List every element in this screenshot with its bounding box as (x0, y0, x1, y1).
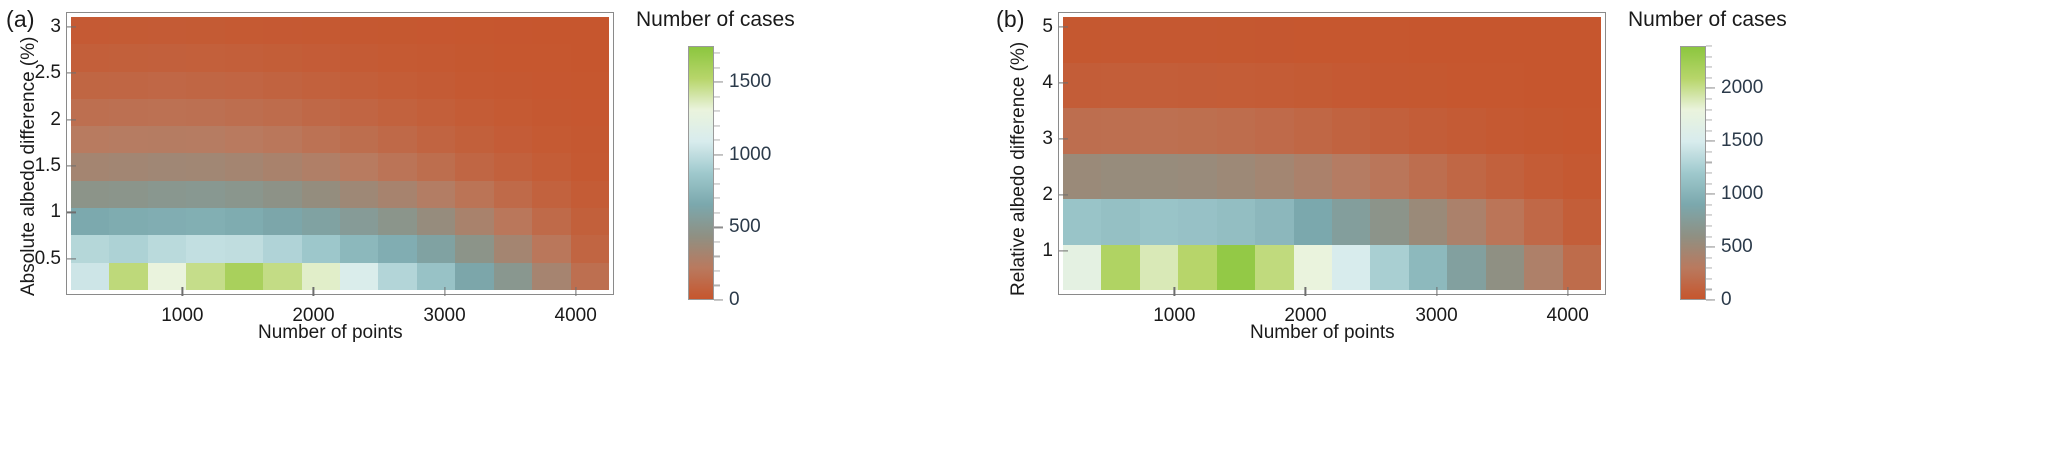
heatmap-cell (494, 99, 532, 126)
heatmap-cell (109, 235, 147, 262)
heatmap-cell (1563, 245, 1601, 291)
panel-b-tag: (b) (996, 6, 1025, 33)
heatmap-cell (186, 17, 224, 44)
heatmap-cell (340, 263, 378, 290)
panel-a-colorbar-title: Number of cases (636, 8, 795, 32)
heatmap-cell (455, 44, 493, 71)
panel-b-plot-area (1063, 17, 1601, 290)
heatmap-cell (1524, 108, 1562, 154)
heatmap-cell (494, 126, 532, 153)
heatmap-cell (1255, 154, 1293, 200)
heatmap-cell (1486, 199, 1524, 245)
heatmap-cell (532, 99, 570, 126)
heatmap-cell (263, 72, 301, 99)
panel-b-plot-frame: 12345 1000200030004000 (1058, 12, 1606, 295)
heatmap-cell (225, 126, 263, 153)
heatmap-cell (225, 208, 263, 235)
figure-root: (a) Absolute albedo difference (%) 0.511… (0, 0, 2067, 470)
heatmap-cell (1178, 199, 1216, 245)
heatmap-cell (417, 44, 455, 71)
y-tick-label: 4 (1042, 72, 1053, 94)
heatmap-cell (1063, 17, 1101, 63)
heatmap-cell (417, 126, 455, 153)
heatmap-cell (1140, 154, 1178, 200)
heatmap-cell (417, 235, 455, 262)
heatmap-cell (302, 44, 340, 71)
heatmap-cell (1178, 17, 1216, 63)
heatmap-cell (1140, 63, 1178, 109)
y-tick-mark (67, 119, 76, 120)
heatmap-cell (378, 72, 416, 99)
heatmap-cell (1217, 199, 1255, 245)
heatmap-cell (186, 181, 224, 208)
x-tick-mark (1567, 287, 1568, 296)
heatmap-cell (263, 263, 301, 290)
heatmap-cell (225, 235, 263, 262)
colorbar-minor-tick (1706, 98, 1712, 99)
heatmap-cell (494, 153, 532, 180)
heatmap-cell (1255, 63, 1293, 109)
x-tick-label: 1000 (1153, 305, 1195, 327)
colorbar-minor-tick (1706, 204, 1712, 205)
heatmap-cell (378, 99, 416, 126)
heatmap-cell (1447, 199, 1485, 245)
colorbar-minor-tick (1706, 215, 1712, 216)
heatmap-cell (1370, 63, 1408, 109)
colorbar-minor-tick (714, 183, 720, 184)
heatmap-cell (225, 263, 263, 290)
colorbar-minor-tick (714, 125, 720, 126)
heatmap-cell (340, 153, 378, 180)
heatmap-cell (1178, 245, 1216, 291)
y-tick-label: 2 (1042, 184, 1053, 206)
colorbar-tick (1706, 194, 1715, 195)
heatmap-cell (378, 126, 416, 153)
heatmap-cell (532, 126, 570, 153)
heatmap-cell (1370, 245, 1408, 291)
heatmap-cell (302, 99, 340, 126)
heatmap-cell (109, 17, 147, 44)
heatmap-cell (340, 72, 378, 99)
colorbar-minor-tick (714, 53, 720, 54)
heatmap-cell (1447, 154, 1485, 200)
colorbar-minor-tick (714, 212, 720, 213)
heatmap-cell (571, 17, 609, 44)
heatmap-cell (302, 181, 340, 208)
heatmap-cell (1370, 154, 1408, 200)
heatmap-cell (109, 153, 147, 180)
colorbar-tick (714, 299, 723, 300)
heatmap-cell (1563, 154, 1601, 200)
heatmap-cell (417, 263, 455, 290)
y-tick-mark (1059, 251, 1068, 252)
heatmap-cell (1486, 108, 1524, 154)
heatmap-cell (532, 235, 570, 262)
heatmap-cell (571, 126, 609, 153)
heatmap-cell (417, 17, 455, 44)
heatmap-cell (378, 208, 416, 235)
heatmap-cell (302, 72, 340, 99)
heatmap-cell (532, 153, 570, 180)
heatmap-cell (417, 99, 455, 126)
heatmap-cell (1255, 245, 1293, 291)
heatmap-cell (340, 126, 378, 153)
heatmap-cell (455, 17, 493, 44)
colorbar-tick (1706, 141, 1715, 142)
panel-a-heatmap (71, 17, 609, 290)
heatmap-cell (494, 17, 532, 44)
heatmap-cell (1101, 17, 1139, 63)
heatmap-cell (571, 208, 609, 235)
heatmap-cell (1140, 17, 1178, 63)
heatmap-cell (1524, 245, 1562, 291)
heatmap-cell (1063, 108, 1101, 154)
y-tick-label: 2.5 (35, 62, 61, 84)
heatmap-cell (225, 17, 263, 44)
panel-a-plot-area (71, 17, 609, 290)
x-tick-mark (575, 287, 576, 296)
heatmap-cell (263, 44, 301, 71)
heatmap-cell (148, 263, 186, 290)
heatmap-cell (1294, 199, 1332, 245)
heatmap-cell (263, 99, 301, 126)
heatmap-cell (378, 153, 416, 180)
heatmap-cell (455, 208, 493, 235)
heatmap-cell (1332, 199, 1370, 245)
heatmap-cell (1178, 154, 1216, 200)
heatmap-cell (378, 17, 416, 44)
heatmap-cell (455, 153, 493, 180)
y-tick-mark (67, 166, 76, 167)
heatmap-cell (71, 263, 109, 290)
panel-b-heatmap (1063, 17, 1601, 290)
heatmap-cell (455, 235, 493, 262)
x-tick-mark (1305, 287, 1306, 296)
heatmap-cell (1101, 199, 1139, 245)
heatmap-cell (571, 99, 609, 126)
panel-a-plot-frame: 0.511.522.53 1000200030004000 (66, 12, 614, 295)
colorbar-minor-tick (1706, 77, 1712, 78)
heatmap-cell (1409, 17, 1447, 63)
x-tick-mark (444, 287, 445, 296)
panel-b-colorbar-title: Number of cases (1628, 8, 1787, 32)
heatmap-cell (494, 235, 532, 262)
heatmap-cell (263, 126, 301, 153)
heatmap-cell (71, 126, 109, 153)
heatmap-cell (71, 208, 109, 235)
panel-b-colorbar (1680, 46, 1706, 300)
heatmap-cell (1101, 108, 1139, 154)
heatmap-cell (1217, 154, 1255, 200)
heatmap-cell (1409, 199, 1447, 245)
heatmap-cell (71, 17, 109, 44)
colorbar-minor-tick (1706, 45, 1712, 46)
colorbar-tick (714, 154, 723, 155)
heatmap-cell (1101, 245, 1139, 291)
heatmap-cell (1063, 63, 1101, 109)
colorbar-minor-tick (714, 270, 720, 271)
heatmap-cell (1447, 108, 1485, 154)
heatmap-cell (1217, 108, 1255, 154)
colorbar-tick-label: 0 (729, 289, 740, 311)
colorbar-tick-label: 0 (1721, 289, 1732, 311)
heatmap-cell (148, 235, 186, 262)
heatmap-cell (340, 99, 378, 126)
colorbar-minor-tick (1706, 120, 1712, 121)
x-tick-mark (1174, 287, 1175, 296)
y-tick-mark (1059, 26, 1068, 27)
heatmap-cell (1063, 245, 1101, 291)
heatmap-cell (494, 263, 532, 290)
heatmap-cell (1370, 17, 1408, 63)
heatmap-cell (1524, 17, 1562, 63)
heatmap-cell (1063, 154, 1101, 200)
heatmap-cell (1332, 108, 1370, 154)
heatmap-cell (1140, 108, 1178, 154)
colorbar-minor-tick (714, 67, 720, 68)
panel-a-colorbar-group: Number of cases 050010001500 (636, 0, 936, 470)
x-tick-label: 4000 (1547, 305, 1589, 327)
heatmap-cell (186, 263, 224, 290)
heatmap-cell (1217, 63, 1255, 109)
heatmap-cell (1063, 199, 1101, 245)
colorbar-minor-tick (1706, 225, 1712, 226)
colorbar-minor-tick (1706, 109, 1712, 110)
panel-b-xlabel: Number of points (1250, 322, 1395, 344)
heatmap-cell (494, 181, 532, 208)
heatmap-cell (109, 72, 147, 99)
heatmap-cell (186, 99, 224, 126)
panel-a-xlabel: Number of points (258, 322, 403, 344)
heatmap-cell (71, 99, 109, 126)
colorbar-minor-tick (714, 198, 720, 199)
heatmap-cell (455, 126, 493, 153)
colorbar-tick-label: 2000 (1721, 77, 1763, 99)
colorbar-minor-tick (1706, 172, 1712, 173)
heatmap-cell (378, 44, 416, 71)
heatmap-cell (532, 72, 570, 99)
heatmap-cell (378, 181, 416, 208)
colorbar-tick-label: 500 (1721, 236, 1753, 258)
heatmap-cell (417, 72, 455, 99)
heatmap-cell (302, 235, 340, 262)
heatmap-cell (1255, 108, 1293, 154)
heatmap-cell (1217, 245, 1255, 291)
heatmap-cell (71, 235, 109, 262)
y-tick-label: 3 (1042, 128, 1053, 150)
heatmap-cell (340, 181, 378, 208)
heatmap-cell (302, 126, 340, 153)
colorbar-minor-tick (1706, 130, 1712, 131)
colorbar-tick (714, 82, 723, 83)
heatmap-cell (1447, 63, 1485, 109)
heatmap-cell (71, 181, 109, 208)
heatmap-cell (1101, 63, 1139, 109)
colorbar-tick-label: 1500 (729, 71, 771, 93)
heatmap-cell (225, 44, 263, 71)
panel-b-colorbar-group: Number of cases 0500100015002000 (1628, 0, 1928, 470)
y-tick-mark (1059, 82, 1068, 83)
heatmap-cell (378, 263, 416, 290)
colorbar-minor-tick (714, 169, 720, 170)
heatmap-cell (263, 17, 301, 44)
heatmap-cell (1140, 199, 1178, 245)
heatmap-cell (455, 99, 493, 126)
heatmap-cell (1255, 199, 1293, 245)
heatmap-cell (340, 208, 378, 235)
heatmap-cell (1255, 17, 1293, 63)
heatmap-cell (225, 72, 263, 99)
heatmap-cell (571, 44, 609, 71)
colorbar-tick-label: 500 (729, 216, 761, 238)
panel-a-colorbar (688, 46, 714, 300)
panel-b: (b) Relative albedo difference (%) 12345… (1010, 0, 2067, 470)
heatmap-cell (494, 208, 532, 235)
heatmap-cell (378, 235, 416, 262)
heatmap-cell (571, 235, 609, 262)
x-tick-label: 4000 (555, 305, 597, 327)
heatmap-cell (263, 181, 301, 208)
heatmap-cell (186, 126, 224, 153)
heatmap-cell (1409, 245, 1447, 291)
heatmap-cell (532, 17, 570, 44)
colorbar-minor-tick (1706, 268, 1712, 269)
colorbar-tick-label: 1500 (1721, 130, 1763, 152)
heatmap-cell (1524, 199, 1562, 245)
heatmap-cell (263, 153, 301, 180)
heatmap-cell (494, 44, 532, 71)
heatmap-cell (1486, 63, 1524, 109)
heatmap-cell (1409, 154, 1447, 200)
heatmap-cell (1332, 154, 1370, 200)
colorbar-minor-tick (1706, 278, 1712, 279)
heatmap-cell (148, 72, 186, 99)
heatmap-cell (1101, 154, 1139, 200)
heatmap-cell (532, 181, 570, 208)
heatmap-cell (1178, 63, 1216, 109)
heatmap-cell (71, 72, 109, 99)
heatmap-cell (1294, 108, 1332, 154)
heatmap-cell (148, 44, 186, 71)
colorbar-minor-tick (1706, 183, 1712, 184)
y-tick-label: 1 (1042, 240, 1053, 262)
heatmap-cell (417, 208, 455, 235)
x-tick-mark (313, 287, 314, 296)
y-tick-mark (67, 26, 76, 27)
heatmap-cell (1178, 108, 1216, 154)
x-tick-mark (182, 287, 183, 296)
heatmap-cell (571, 153, 609, 180)
colorbar-minor-tick (714, 256, 720, 257)
heatmap-cell (1332, 245, 1370, 291)
heatmap-cell (532, 263, 570, 290)
x-tick-label: 1000 (161, 305, 203, 327)
heatmap-cell (1447, 245, 1485, 291)
colorbar-minor-tick (1706, 257, 1712, 258)
heatmap-cell (417, 153, 455, 180)
heatmap-cell (1294, 63, 1332, 109)
heatmap-cell (109, 263, 147, 290)
heatmap-cell (1370, 199, 1408, 245)
heatmap-cell (1370, 108, 1408, 154)
heatmap-cell (455, 181, 493, 208)
heatmap-cell (148, 153, 186, 180)
heatmap-cell (148, 181, 186, 208)
heatmap-cell (340, 235, 378, 262)
heatmap-cell (109, 99, 147, 126)
heatmap-cell (302, 208, 340, 235)
y-tick-label: 5 (1042, 16, 1053, 38)
heatmap-cell (109, 44, 147, 71)
y-tick-label: 0.5 (35, 248, 61, 270)
heatmap-cell (1486, 154, 1524, 200)
colorbar-minor-tick (1706, 56, 1712, 57)
heatmap-cell (455, 72, 493, 99)
colorbar-tick (1706, 88, 1715, 89)
heatmap-cell (302, 263, 340, 290)
heatmap-cell (263, 235, 301, 262)
heatmap-cell (186, 44, 224, 71)
heatmap-cell (1524, 63, 1562, 109)
colorbar-tick (1706, 247, 1715, 248)
heatmap-cell (148, 208, 186, 235)
heatmap-cell (1524, 154, 1562, 200)
colorbar-minor-tick (714, 241, 720, 242)
heatmap-cell (1486, 245, 1524, 291)
heatmap-cell (571, 181, 609, 208)
x-tick-label: 3000 (1415, 305, 1457, 327)
heatmap-cell (1332, 63, 1370, 109)
heatmap-cell (1563, 199, 1601, 245)
colorbar-tick-label: 1000 (1721, 183, 1763, 205)
heatmap-cell (148, 126, 186, 153)
panel-a-tag: (a) (6, 6, 35, 33)
heatmap-cell (1447, 17, 1485, 63)
heatmap-cell (186, 153, 224, 180)
heatmap-cell (1563, 17, 1601, 63)
heatmap-cell (1409, 108, 1447, 154)
heatmap-cell (302, 153, 340, 180)
y-tick-label: 1.5 (35, 155, 61, 177)
colorbar-minor-tick (714, 96, 720, 97)
heatmap-cell (455, 263, 493, 290)
heatmap-cell (340, 44, 378, 71)
y-tick-mark (67, 212, 76, 213)
panel-b-ylabel: Relative albedo difference (%) (1008, 42, 1030, 296)
panel-a: (a) Absolute albedo difference (%) 0.511… (0, 0, 1010, 470)
heatmap-cell (302, 17, 340, 44)
heatmap-cell (186, 72, 224, 99)
colorbar-minor-tick (1706, 67, 1712, 68)
heatmap-cell (417, 181, 455, 208)
heatmap-cell (71, 44, 109, 71)
colorbar-tick-label: 1000 (729, 144, 771, 166)
heatmap-cell (1486, 17, 1524, 63)
y-tick-mark (67, 258, 76, 259)
heatmap-cell (186, 208, 224, 235)
heatmap-cell (532, 208, 570, 235)
heatmap-cell (225, 181, 263, 208)
x-tick-label: 3000 (423, 305, 465, 327)
colorbar-minor-tick (1706, 151, 1712, 152)
y-tick-mark (1059, 138, 1068, 139)
colorbar-minor-tick (714, 285, 720, 286)
heatmap-cell (494, 72, 532, 99)
colorbar-tick (1706, 299, 1715, 300)
heatmap-cell (109, 126, 147, 153)
colorbar-minor-tick (714, 111, 720, 112)
heatmap-cell (1409, 63, 1447, 109)
